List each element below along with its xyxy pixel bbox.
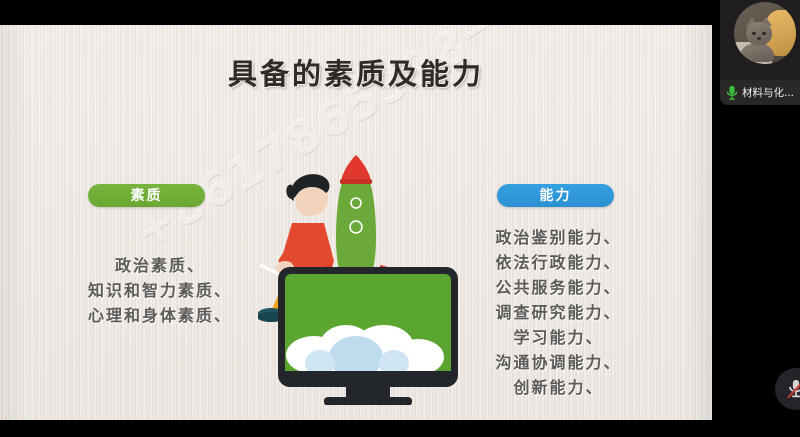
right-line-3: 公共服务能力、 xyxy=(466,275,651,300)
page-title: 具备的素质及能力 xyxy=(0,51,712,93)
participant-avatar-photo xyxy=(720,0,800,80)
avatar xyxy=(734,2,796,64)
avatar-cat-nose xyxy=(757,37,761,40)
avatar-cat-body xyxy=(740,44,774,62)
left-line-2: 知识和智力素质、 xyxy=(50,278,270,303)
meeting-screen-share-view: +8617865398一切中美18一... 具备的素质及能力 素质 能力 政治素… xyxy=(0,0,800,437)
participant-video-tile[interactable]: 材料与化... xyxy=(720,0,800,105)
left-line-3: 心理和身体素质、 xyxy=(50,303,270,328)
right-text-column: 政治鉴别能力、 依法行政能力、 公共服务能力、 调查研究能力、 学习能力、 沟通… xyxy=(466,225,651,400)
right-line-5: 学习能力、 xyxy=(466,325,651,350)
participant-name-bar: 材料与化... xyxy=(720,80,800,105)
badge-nengli: 能力 xyxy=(497,184,614,207)
microphone-icon[interactable] xyxy=(726,85,738,100)
presentation-slide[interactable]: +8617865398一切中美18一... 具备的素质及能力 素质 能力 政治素… xyxy=(0,25,712,420)
badge-suzhi: 素质 xyxy=(88,184,205,207)
left-line-1: 政治素质、 xyxy=(50,253,270,278)
avatar-cat-head xyxy=(746,22,772,46)
right-line-1: 政治鉴别能力、 xyxy=(466,225,651,250)
right-line-2: 依法行政能力、 xyxy=(466,250,651,275)
right-line-7: 创新能力、 xyxy=(466,375,651,400)
right-line-6: 沟通协调能力、 xyxy=(466,350,651,375)
left-text-column: 政治素质、 知识和智力素质、 心理和身体素质、 xyxy=(50,253,270,328)
avatar-cat-eye-right xyxy=(762,32,766,35)
right-line-4: 调查研究能力、 xyxy=(466,300,651,325)
participant-name-label: 材料与化... xyxy=(742,85,794,100)
slide-illustration-icon xyxy=(258,145,468,405)
monitor-icon xyxy=(278,267,458,405)
microphone-muted-button[interactable] xyxy=(775,368,800,410)
microphone-muted-icon xyxy=(785,378,800,400)
avatar-cat-eye-left xyxy=(752,32,756,35)
